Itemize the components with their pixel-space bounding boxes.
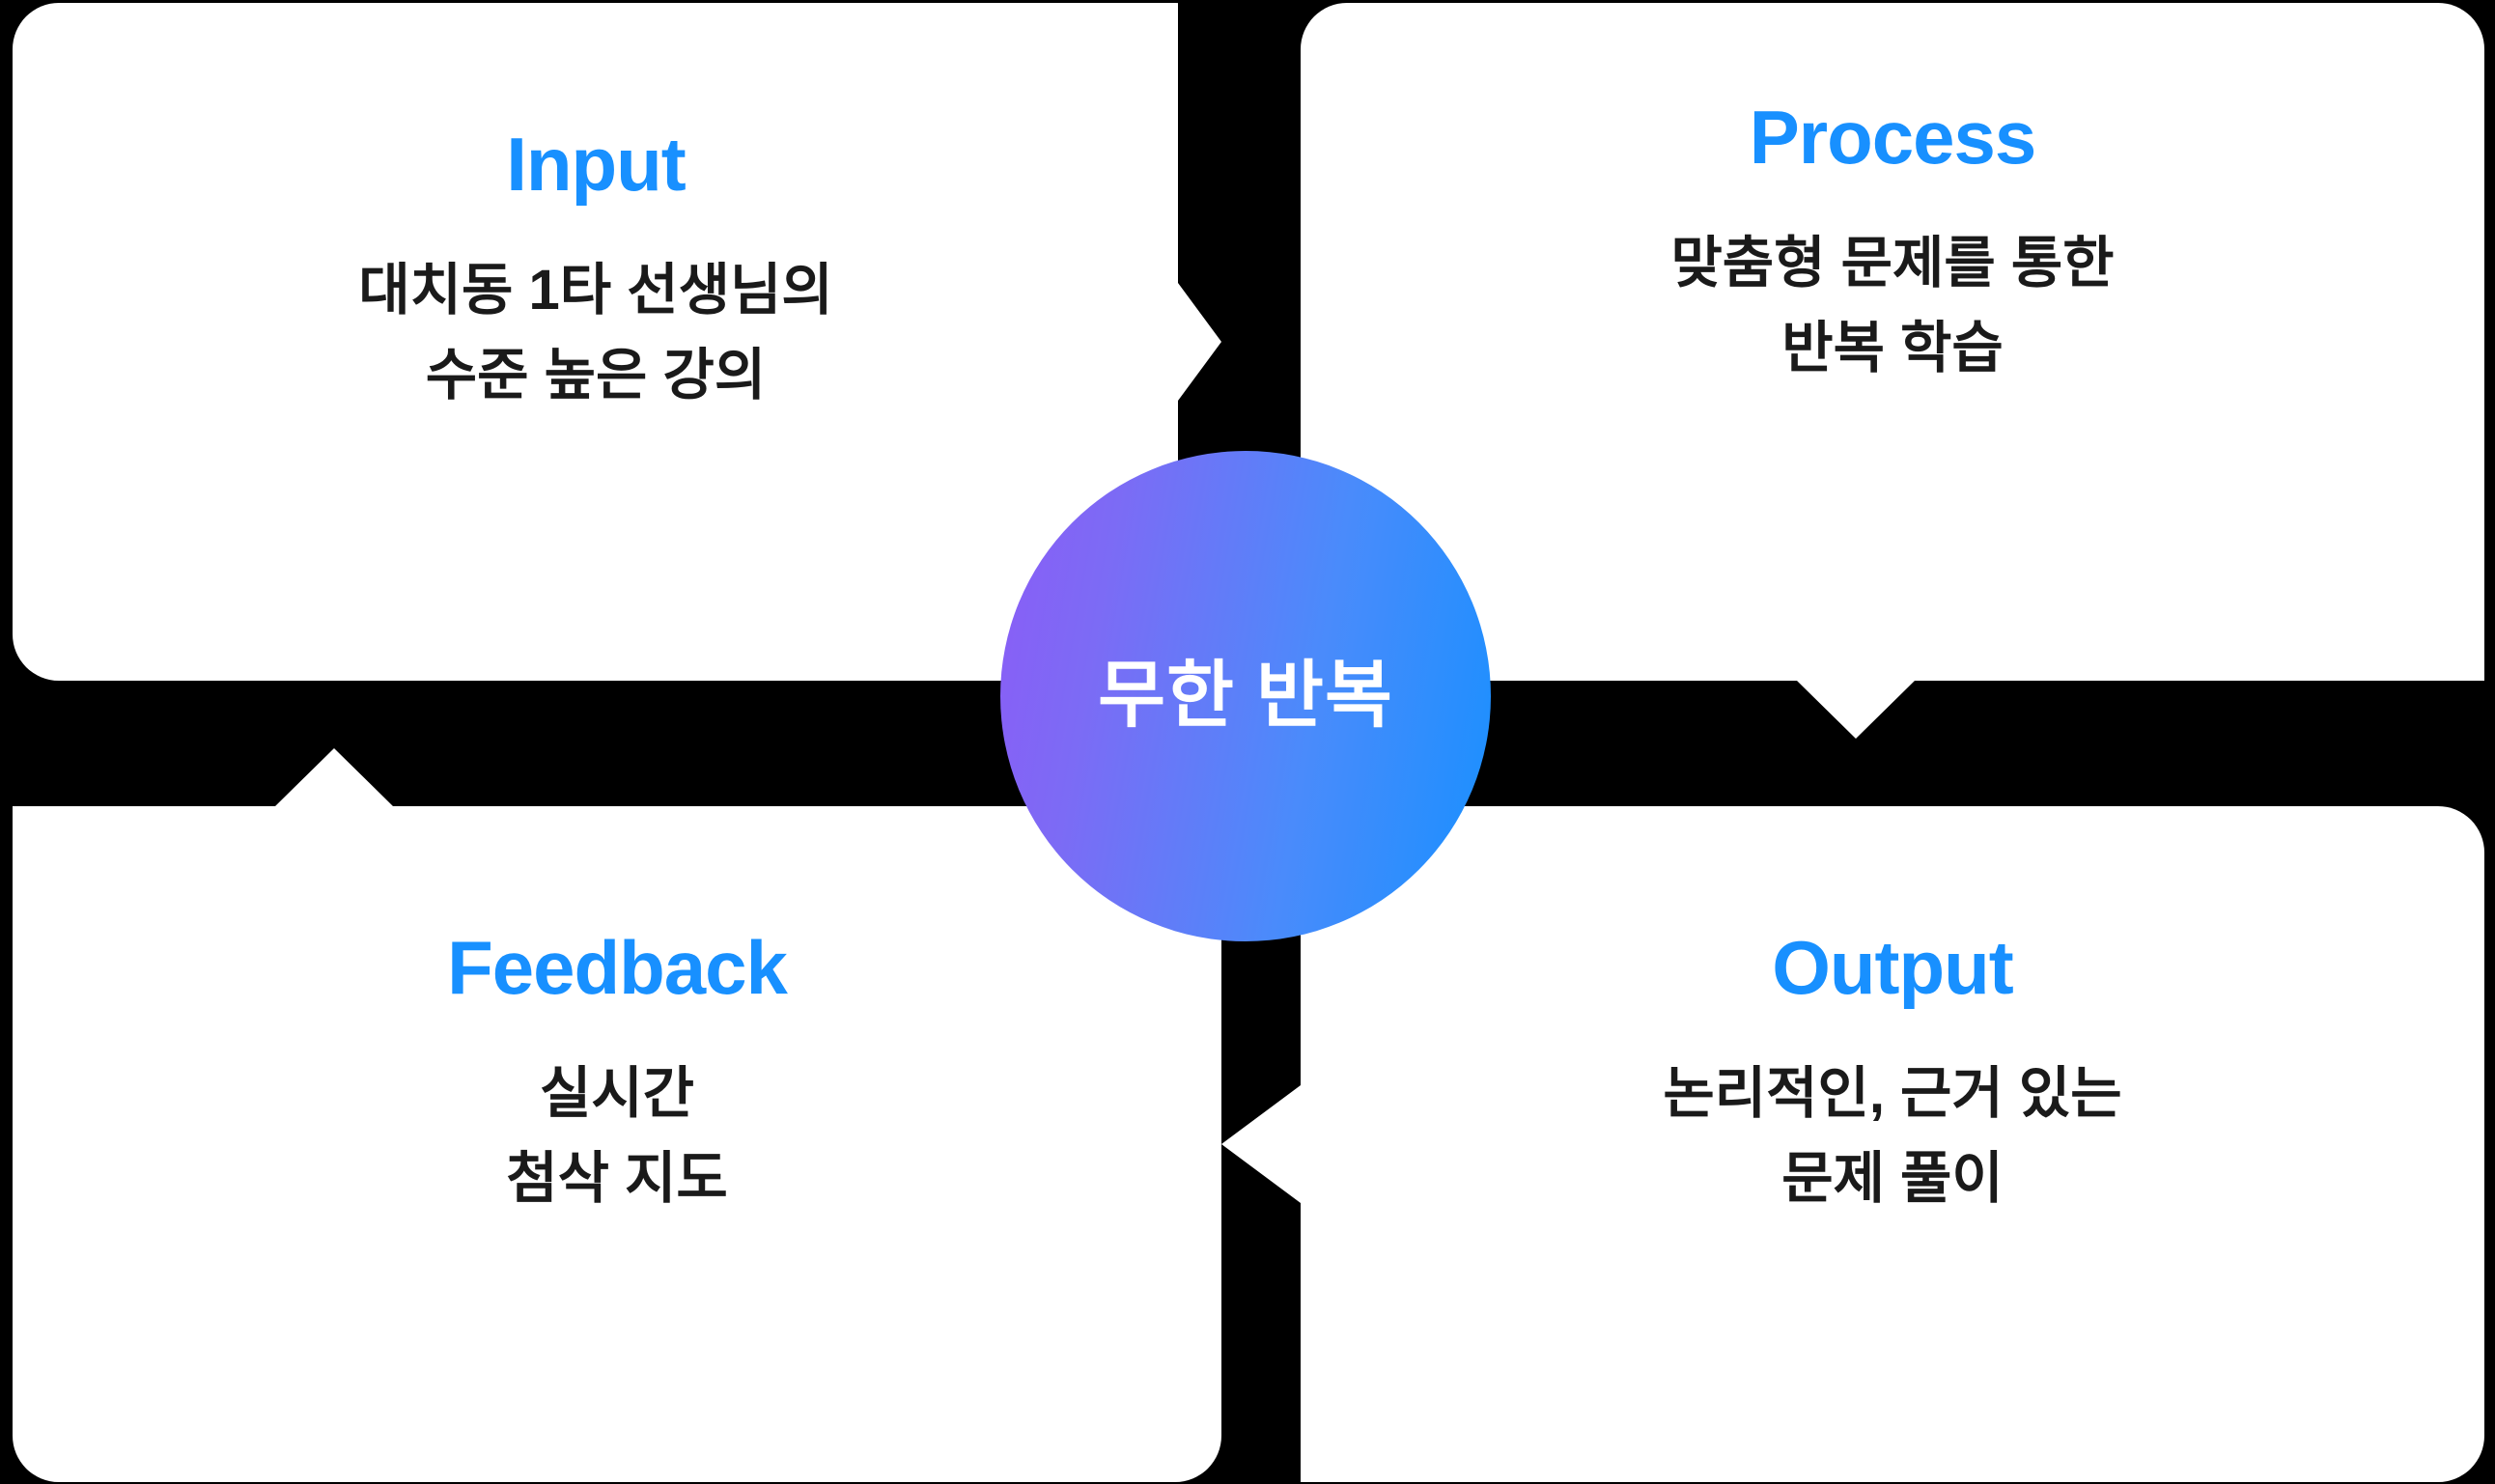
- card-process-line-1: 맞춤형 문제를 통한: [1670, 225, 2114, 302]
- card-input-content: Input 대치동 1타 선생님의 수준 높은 강의: [358, 126, 832, 414]
- card-feedback-content: Feedback 실시간 첨삭 지도: [447, 930, 787, 1218]
- card-output-title: Output: [1772, 930, 2013, 1005]
- card-output[interactable]: Output 논리적인, 근거 있는 문제 풀이: [1221, 806, 2484, 1482]
- card-input-line-2: 수준 높은 강의: [358, 337, 832, 414]
- card-process-line-2: 반복 학습: [1670, 310, 2114, 387]
- card-output-line-1: 논리적인, 근거 있는: [1663, 1055, 2121, 1133]
- center-hub-label: 무한 반복: [1098, 659, 1393, 733]
- card-output-content: Output 논리적인, 근거 있는 문제 풀이: [1663, 930, 2121, 1218]
- card-input-title: Input: [506, 126, 686, 202]
- card-feedback[interactable]: Feedback 실시간 첨삭 지도: [13, 748, 1221, 1482]
- diagram-canvas: Input 대치동 1타 선생님의 수준 높은 강의 Process 맞춤형 문…: [0, 0, 2495, 1484]
- card-input-line-1: 대치동 1타 선생님의: [358, 252, 832, 329]
- card-output-line-2: 문제 풀이: [1663, 1140, 2121, 1218]
- card-feedback-title: Feedback: [447, 930, 787, 1005]
- card-feedback-line-1: 실시간: [506, 1055, 728, 1133]
- center-hub-circle[interactable]: 무한 반복: [1000, 451, 1491, 941]
- card-process-content: Process 맞춤형 문제를 통한 반복 학습: [1670, 99, 2114, 387]
- card-feedback-line-2: 첨삭 지도: [506, 1140, 728, 1218]
- card-process-title: Process: [1750, 99, 2036, 175]
